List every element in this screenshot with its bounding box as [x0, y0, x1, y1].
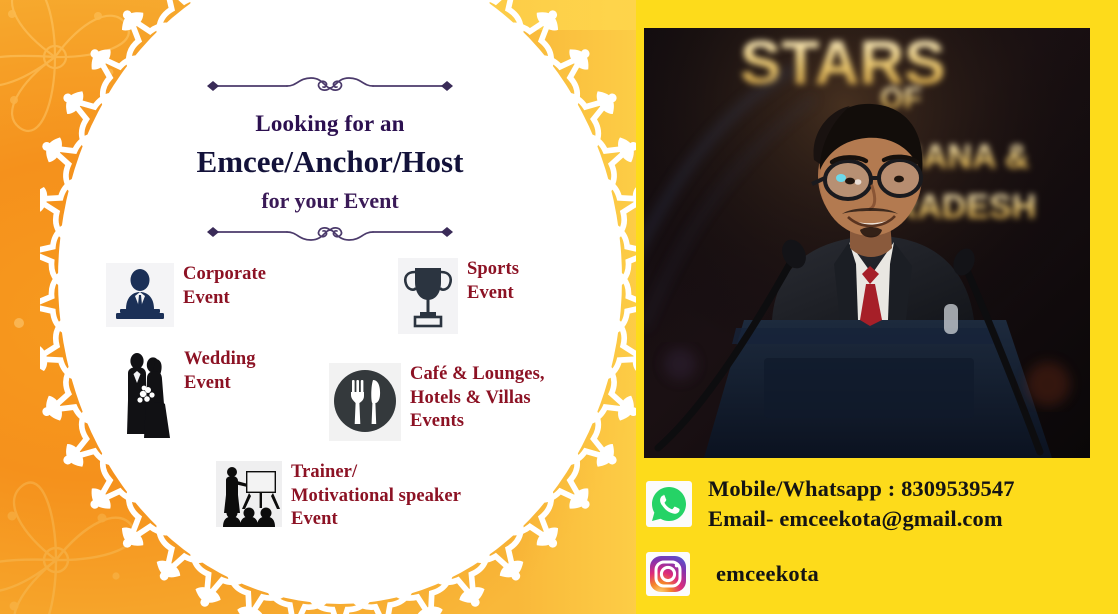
service-item-sports[interactable]: Sports Event: [398, 258, 519, 334]
wedding-couple-icon: [117, 348, 175, 440]
contact-instagram-row[interactable]: emceekota: [646, 552, 819, 596]
poster-canvas: Looking for an Emcee/Anchor/Host for you…: [0, 0, 1118, 614]
businessman-podium-icon: [106, 263, 174, 327]
service-label-corporate: Corporate Event: [183, 263, 266, 310]
left-orange-panel: Looking for an Emcee/Anchor/Host for you…: [0, 0, 636, 614]
service-item-cafe[interactable]: Café & Lounges, Hotels & Villas Events: [329, 363, 545, 441]
headline-line-3: for your Event: [150, 187, 510, 216]
email-line: Email- emceekota@gmail.com: [708, 504, 1015, 534]
headline-line-2: Emcee/Anchor/Host: [150, 142, 510, 182]
ornament-divider-top-icon: [199, 74, 461, 96]
headline-block: Looking for an Emcee/Anchor/Host for you…: [150, 74, 510, 244]
fork-knife-plate-icon: [329, 363, 401, 441]
service-label-trainer: Trainer/ Motivational speaker Event: [291, 461, 461, 532]
service-item-wedding[interactable]: Wedding Event: [117, 348, 256, 440]
right-yellow-panel: STARS OF NGANA & PRADESH: [636, 0, 1118, 614]
whatsapp-icon[interactable]: [646, 481, 692, 527]
trophy-icon: [398, 258, 458, 334]
service-item-corporate[interactable]: Corporate Event: [106, 263, 266, 327]
service-label-wedding: Wedding Event: [184, 348, 256, 395]
service-label-cafe: Café & Lounges, Hotels & Villas Events: [410, 363, 545, 434]
instagram-handle: emceekota: [716, 561, 819, 587]
speaker-photo: STARS OF NGANA & PRADESH: [644, 28, 1090, 458]
speaker-photo-artwork: STARS OF NGANA & PRADESH: [644, 28, 1090, 458]
contact-mobile-email-row[interactable]: Mobile/Whatsapp : 8309539547 Email- emce…: [646, 474, 1015, 534]
service-item-trainer[interactable]: Trainer/ Motivational speaker Event: [216, 461, 461, 532]
service-label-sports: Sports Event: [467, 258, 519, 305]
contact-text-block: Mobile/Whatsapp : 8309539547 Email- emce…: [708, 474, 1015, 534]
trainer-whiteboard-icon: [216, 461, 282, 527]
small-dot-accent-icon: [6, 310, 32, 336]
ornament-divider-bottom-icon: [199, 222, 461, 244]
headline-line-1: Looking for an: [150, 110, 510, 139]
mobile-line: Mobile/Whatsapp : 8309539547: [708, 474, 1015, 504]
instagram-icon[interactable]: [646, 552, 690, 596]
